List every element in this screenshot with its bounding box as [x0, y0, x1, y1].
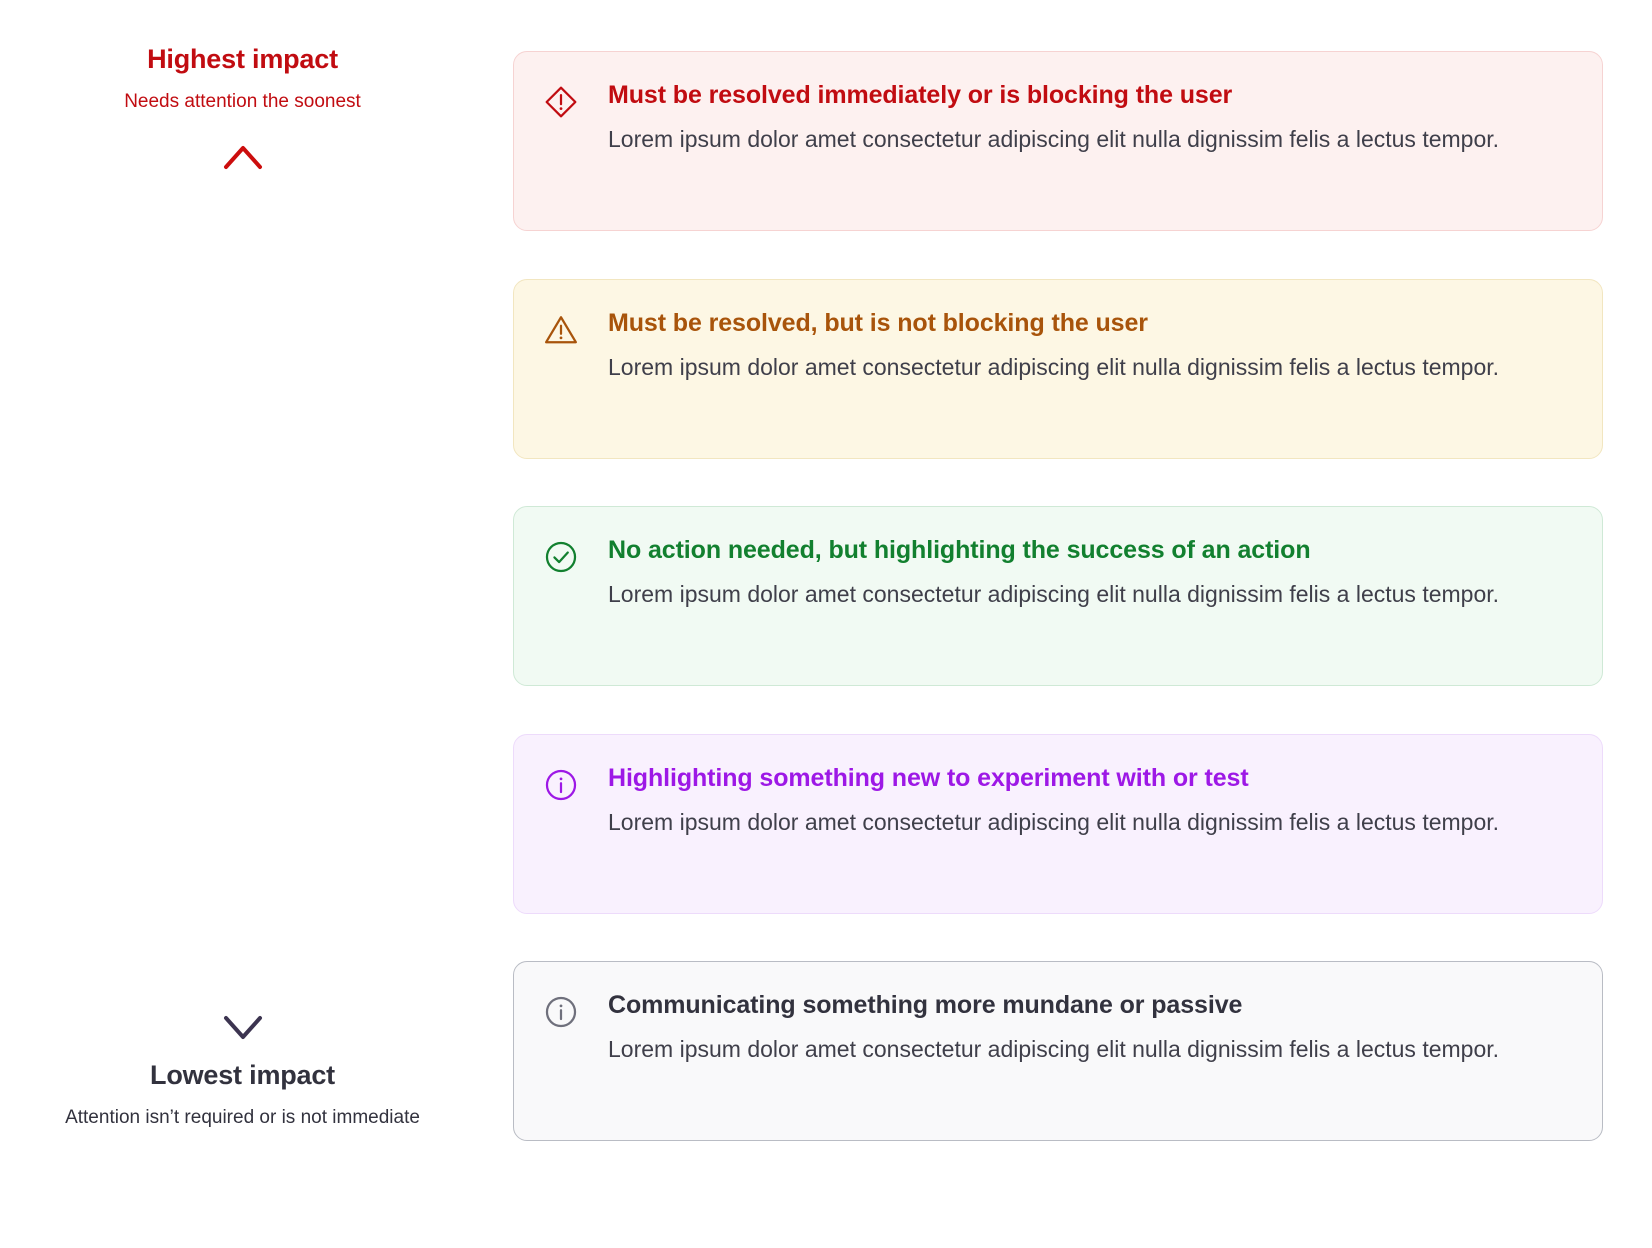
circle-info-icon: [544, 768, 578, 802]
alert-card-body: No action needed, but highlighting the s…: [608, 535, 1572, 613]
lowest-impact-title: Lowest impact: [0, 1058, 485, 1092]
alert-card-title: Must be resolved, but is not blocking th…: [608, 308, 1572, 338]
alert-card-success: No action needed, but highlighting the s…: [513, 506, 1603, 686]
alert-card-title: Communicating something more mundane or …: [608, 990, 1572, 1020]
impact-scale-column: Highest impact Needs attention the soone…: [0, 0, 485, 1248]
diamond-exclamation-icon: [544, 85, 578, 119]
circle-info-icon: [544, 995, 578, 1029]
alert-card-neutral: Communicating something more mundane or …: [513, 961, 1603, 1141]
alert-card-title: Must be resolved immediately or is block…: [608, 80, 1572, 110]
alert-card-body: Must be resolved, but is not blocking th…: [608, 308, 1572, 386]
impact-gradient-arrow: [0, 140, 485, 1045]
alert-card-title: No action needed, but highlighting the s…: [608, 535, 1572, 565]
alert-card-list: Must be resolved immediately or is block…: [513, 0, 1603, 1248]
alert-card-description: Lorem ipsum dolor amet consectetur adipi…: [608, 348, 1508, 386]
highest-impact-title: Highest impact: [0, 42, 485, 76]
alert-card-body: Highlighting something new to experiment…: [608, 763, 1572, 841]
circle-check-icon: [544, 540, 578, 574]
impact-scale-legend: Highest impact Needs attention the soone…: [0, 0, 1652, 1248]
alert-card-body: Must be resolved immediately or is block…: [608, 80, 1572, 158]
alert-card-body: Communicating something more mundane or …: [608, 990, 1572, 1068]
lowest-impact-label-group: Lowest impact Attention isn’t required o…: [0, 1058, 485, 1131]
gradient-arrow-svg: [213, 140, 273, 1045]
alert-card-description: Lorem ipsum dolor amet consectetur adipi…: [608, 1030, 1508, 1068]
alert-card-warning: Must be resolved, but is not blocking th…: [513, 279, 1603, 459]
alert-card-discovery: Highlighting something new to experiment…: [513, 734, 1603, 914]
highest-impact-label-group: Highest impact Needs attention the soone…: [0, 42, 485, 115]
lowest-impact-subtitle: Attention isn’t required or is not immed…: [0, 1105, 485, 1131]
alert-card-description: Lorem ipsum dolor amet consectetur adipi…: [608, 575, 1508, 613]
alert-card-description: Lorem ipsum dolor amet consectetur adipi…: [608, 803, 1508, 841]
alert-card-critical: Must be resolved immediately or is block…: [513, 51, 1603, 231]
alert-card-title: Highlighting something new to experiment…: [608, 763, 1572, 793]
highest-impact-subtitle: Needs attention the soonest: [0, 89, 485, 115]
triangle-exclamation-icon: [544, 313, 578, 347]
alert-card-description: Lorem ipsum dolor amet consectetur adipi…: [608, 120, 1508, 158]
